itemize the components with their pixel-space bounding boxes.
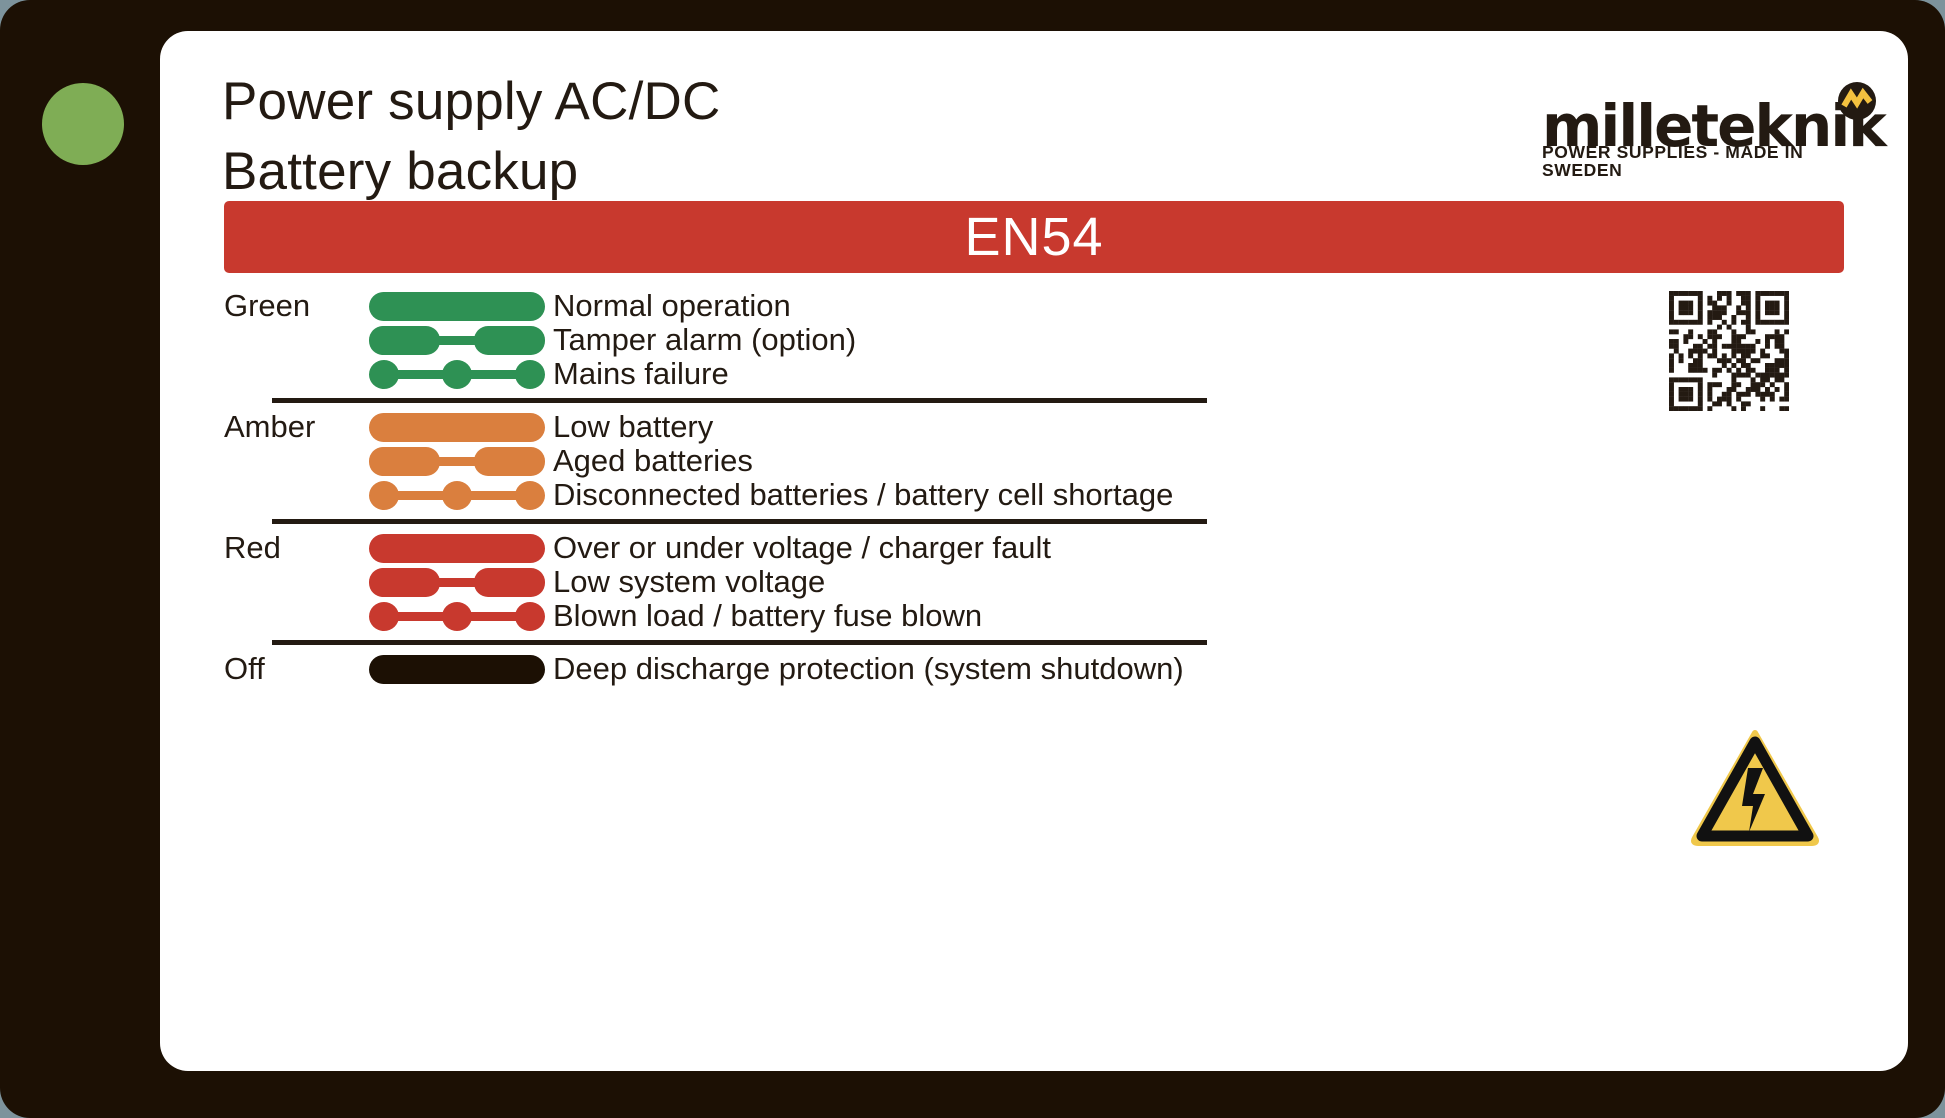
legend-row-text: Low system voltage bbox=[553, 565, 825, 599]
standard-banner-label: EN54 bbox=[964, 206, 1103, 268]
legend-row: Disconnected batteries / battery cell sh… bbox=[224, 478, 1844, 512]
legend-row-text: Normal operation bbox=[553, 289, 791, 323]
legend-row: Low system voltage bbox=[224, 565, 1844, 599]
legend-group-name: Amber bbox=[224, 410, 334, 444]
group-divider bbox=[272, 640, 1207, 645]
legend-row-text: Disconnected batteries / battery cell sh… bbox=[553, 478, 1173, 512]
legend-group: RedOver or under voltage / charger fault… bbox=[224, 531, 1844, 633]
qr-code-icon bbox=[1669, 291, 1789, 411]
led-pattern-dual bbox=[369, 565, 545, 599]
led-pattern-dots bbox=[369, 357, 545, 391]
brand-logo: milleteknik POWER SUPPLIES - MADE IN SWE… bbox=[1542, 88, 1872, 183]
legend-row: Aged batteries bbox=[224, 444, 1844, 478]
standard-banner: EN54 bbox=[224, 201, 1844, 273]
logo-tagline: POWER SUPPLIES - MADE IN SWEDEN bbox=[1542, 144, 1872, 179]
legend-row: RedOver or under voltage / charger fault bbox=[224, 531, 1844, 565]
title-line-1: Power supply AC/DC bbox=[222, 67, 1122, 137]
product-label-card: Power supply AC/DC Battery backup millet… bbox=[0, 0, 1945, 1118]
legend-row: OffDeep discharge protection (system shu… bbox=[224, 652, 1844, 686]
legend-row-text: Deep discharge protection (system shutdo… bbox=[553, 652, 1184, 686]
led-pattern-dots bbox=[369, 478, 545, 512]
legend-group-name: Red bbox=[224, 531, 334, 565]
led-pattern-solid bbox=[369, 531, 545, 565]
led-pattern-dual bbox=[369, 444, 545, 478]
label-white-panel: Power supply AC/DC Battery backup millet… bbox=[160, 31, 1908, 1071]
legend-row-text: Over or under voltage / charger fault bbox=[553, 531, 1051, 565]
legend-row-text: Mains failure bbox=[553, 357, 729, 391]
led-legend: GreenNormal operationTamper alarm (optio… bbox=[224, 289, 1844, 686]
legend-group: GreenNormal operationTamper alarm (optio… bbox=[224, 289, 1844, 391]
legend-row-text: Blown load / battery fuse blown bbox=[553, 599, 982, 633]
legend-row: Tamper alarm (option) bbox=[224, 323, 1844, 357]
legend-row: Blown load / battery fuse blown bbox=[224, 599, 1844, 633]
led-pattern-dual bbox=[369, 323, 545, 357]
legend-row: GreenNormal operation bbox=[224, 289, 1844, 323]
led-pattern-solid bbox=[369, 652, 545, 686]
led-pattern-dots bbox=[369, 599, 545, 633]
title-line-2: Battery backup bbox=[222, 137, 1122, 207]
legend-row-text: Aged batteries bbox=[553, 444, 753, 478]
led-pattern-solid bbox=[369, 410, 545, 444]
legend-row: AmberLow battery bbox=[224, 410, 1844, 444]
group-divider bbox=[272, 398, 1207, 403]
legend-group: OffDeep discharge protection (system shu… bbox=[224, 652, 1844, 686]
legend-row-text: Low battery bbox=[553, 410, 713, 444]
legend-row-text: Tamper alarm (option) bbox=[553, 323, 856, 357]
legend-group: AmberLow batteryAged batteriesDisconnect… bbox=[224, 410, 1844, 512]
legend-group-name: Green bbox=[224, 289, 334, 323]
group-divider bbox=[272, 519, 1207, 524]
status-indicator-dot bbox=[42, 83, 124, 165]
legend-row: Mains failure bbox=[224, 357, 1844, 391]
electrical-hazard-icon bbox=[1691, 728, 1819, 846]
led-pattern-solid bbox=[369, 289, 545, 323]
page-title: Power supply AC/DC Battery backup bbox=[222, 67, 1122, 208]
lightning-bolt-icon bbox=[1838, 82, 1876, 120]
legend-group-name: Off bbox=[224, 652, 334, 686]
